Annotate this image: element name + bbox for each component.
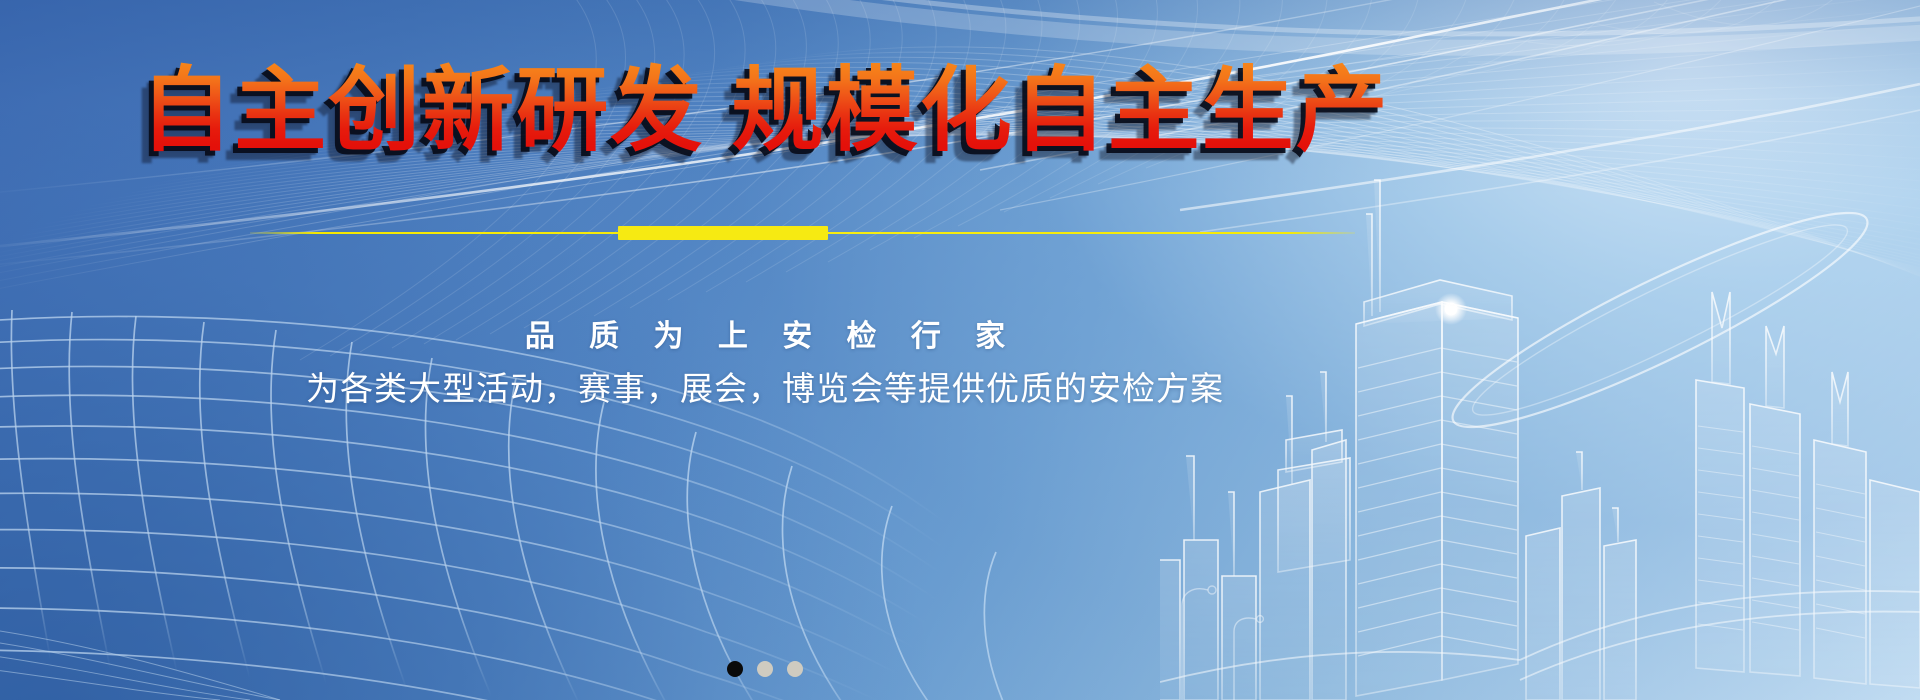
- carousel-indicators[interactable]: [0, 661, 1530, 677]
- divider-thick-segment: [618, 226, 828, 240]
- hero-banner: 自主创新研发 规模化自主生产 品 质 为 上 安 检 行 家 为各类大型活动，赛…: [0, 0, 1920, 700]
- carousel-dot-2[interactable]: [757, 661, 773, 677]
- carousel-dot-3[interactable]: [787, 661, 803, 677]
- banner-subtitle: 品 质 为 上 安 检 行 家: [0, 311, 1530, 355]
- banner-content: 自主创新研发 规模化自主生产 品 质 为 上 安 检 行 家 为各类大型活动，赛…: [0, 0, 1920, 700]
- banner-description: 为各类大型活动，赛事，展会，博览会等提供优质的安检方案: [0, 362, 1530, 410]
- page-title: 自主创新研发 规模化自主生产: [0, 62, 1530, 161]
- divider: [250, 226, 1355, 242]
- carousel-dot-1[interactable]: [727, 661, 743, 677]
